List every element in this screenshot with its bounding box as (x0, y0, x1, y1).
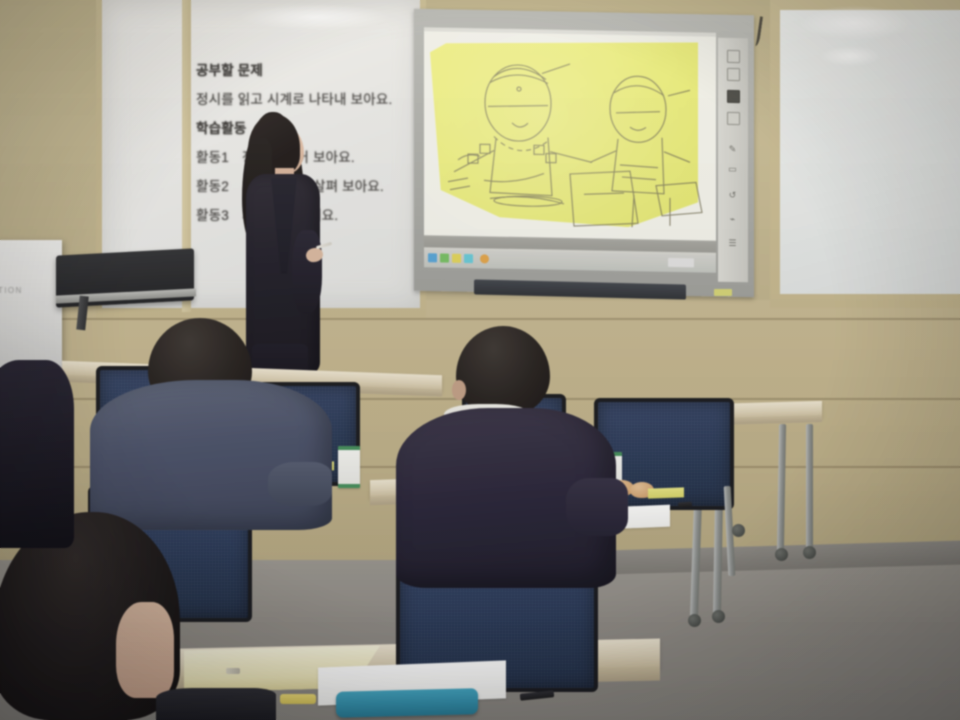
media-icon[interactable] (464, 254, 473, 263)
audience-body-1 (90, 380, 332, 530)
page-button-2[interactable] (727, 68, 740, 81)
whiteboard-right (770, 0, 960, 308)
page-button-1[interactable] (727, 50, 740, 63)
screen-glare (424, 27, 716, 271)
eraser-icon[interactable]: ▭ (726, 164, 739, 175)
cabinet-brand-text: TION (0, 286, 23, 295)
audience-head-2 (456, 326, 550, 416)
sticky-note-right[interactable] (648, 487, 684, 498)
menu-icon[interactable]: ☰ (726, 238, 739, 249)
whiteboard-brand-label (714, 289, 732, 296)
classroom-photo: 공부할 문제 정시를 읽고 시계로 나타내 보아요. 학습활동 활동1 정각을 … (0, 0, 960, 720)
desk-leg-right-b (806, 424, 813, 550)
pen-right[interactable] (678, 502, 692, 508)
caster-chair-right (732, 524, 745, 537)
lesson-objective: 정시를 읽고 시계로 나타내 보아요. (196, 85, 426, 114)
yellow-highlighter[interactable] (280, 694, 316, 704)
audience-arm-2 (566, 478, 628, 536)
select-button[interactable] (727, 90, 740, 103)
milk-carton[interactable] (338, 446, 360, 488)
eraser-small[interactable] (226, 668, 240, 674)
projection-screen[interactable] (424, 27, 716, 271)
caster-right-a (775, 548, 788, 561)
page-button-3[interactable] (727, 112, 740, 125)
lesson-title: 공부할 문제 (196, 56, 426, 85)
foreground-shoulder (156, 688, 276, 720)
corner-person-body (0, 360, 74, 548)
pen-icon[interactable]: ✎ (726, 144, 739, 155)
caster-mid-a (688, 614, 701, 627)
equipment-cabinet: TION (0, 240, 62, 370)
audience-arm-1 (268, 462, 332, 506)
whiteboard-control-panel[interactable]: ✎ ▭ ↺ ⌁ ☰ (718, 38, 748, 283)
presenter-arm (292, 230, 322, 314)
start-icon[interactable] (428, 253, 437, 262)
system-tray[interactable] (668, 258, 694, 267)
foreground-face-cheek (116, 602, 174, 698)
whiteboard-right-surface (780, 10, 960, 294)
save-icon[interactable]: ⌁ (726, 214, 739, 225)
undo-icon[interactable]: ↺ (726, 190, 739, 201)
audience-ear-2 (452, 380, 466, 400)
caster-mid-b (712, 610, 725, 623)
browser-icon[interactable] (440, 254, 449, 263)
pencil-case[interactable] (336, 688, 478, 717)
mail-icon[interactable] (480, 254, 489, 263)
caster-right-b (803, 546, 816, 559)
wall-seam-1 (0, 318, 960, 320)
folder-icon[interactable] (452, 254, 461, 263)
